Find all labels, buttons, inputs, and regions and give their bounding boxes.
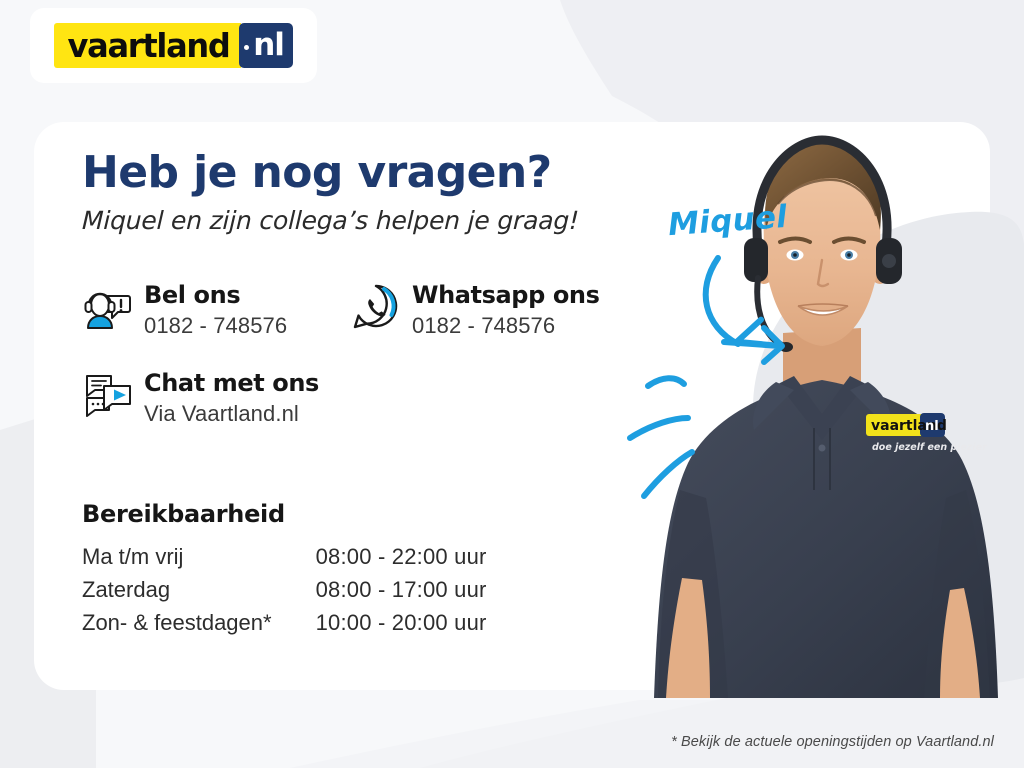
table-row: Zon- & feestdagen* 10:00 - 20:00 uur	[82, 608, 487, 641]
contact-whatsapp-ons[interactable]: Whatsapp ons 0182 - 748576	[350, 280, 599, 339]
logo-tld-box: nl	[239, 23, 293, 68]
agent-photo: vaartland nl doe jezelf een plezier	[618, 118, 1024, 698]
availability-time: 08:00 - 22:00 uur	[316, 542, 487, 575]
table-row: Ma t/m vrij 08:00 - 22:00 uur	[82, 542, 487, 575]
contact-bel-ons[interactable]: Bel ons 0182 - 748576	[82, 280, 287, 339]
whatsapp-icon	[350, 280, 402, 332]
svg-text:doe jezelf een plezier: doe jezelf een plezier	[872, 442, 988, 453]
logo-wordmark: vaartland	[54, 23, 241, 68]
contact-title: Chat met ons	[144, 370, 319, 398]
headset-person-icon	[82, 280, 134, 332]
availability-time: 10:00 - 20:00 uur	[316, 608, 487, 641]
page-subtitle: Miquel en zijn collega’s helpen je graag…	[81, 206, 642, 235]
promo-banner: vaartland nl	[0, 0, 1024, 768]
logo-dot-icon	[244, 45, 249, 50]
logo-tld-text: nl	[253, 30, 284, 61]
logo-word-text: vaartland	[68, 29, 230, 62]
availability-time: 08:00 - 17:00 uur	[316, 575, 487, 608]
chat-bubbles-icon	[82, 368, 134, 420]
brand-logo[interactable]: vaartland nl	[30, 8, 317, 83]
table-row: Zaterdag 08:00 - 17:00 uur	[82, 575, 487, 608]
availability-title: Bereikbaarheid	[82, 500, 487, 528]
hero-text: Heb je nog vragen? Miquel en zijn colleg…	[82, 150, 642, 235]
contact-title: Bel ons	[144, 282, 287, 310]
contact-detail: 0182 - 748576	[144, 313, 287, 339]
contact-detail: Via Vaartland.nl	[144, 401, 319, 427]
contact-chat-met-ons[interactable]: Chat met ons Via Vaartland.nl	[82, 368, 319, 427]
availability-table: Ma t/m vrij 08:00 - 22:00 uur Zaterdag 0…	[82, 542, 487, 641]
availability-day: Zaterdag	[82, 575, 316, 608]
availability-day: Ma t/m vrij	[82, 542, 316, 575]
page-title: Heb je nog vragen?	[82, 150, 642, 196]
contact-title: Whatsapp ons	[412, 282, 599, 310]
contact-detail: 0182 - 748576	[412, 313, 599, 339]
svg-text:nl: nl	[925, 419, 939, 434]
availability-day: Zon- & feestdagen*	[82, 608, 316, 641]
availability-section: Bereikbaarheid Ma t/m vrij 08:00 - 22:00…	[82, 500, 487, 641]
footnote-text: * Bekijk de actuele openingstijden op Va…	[671, 734, 994, 750]
